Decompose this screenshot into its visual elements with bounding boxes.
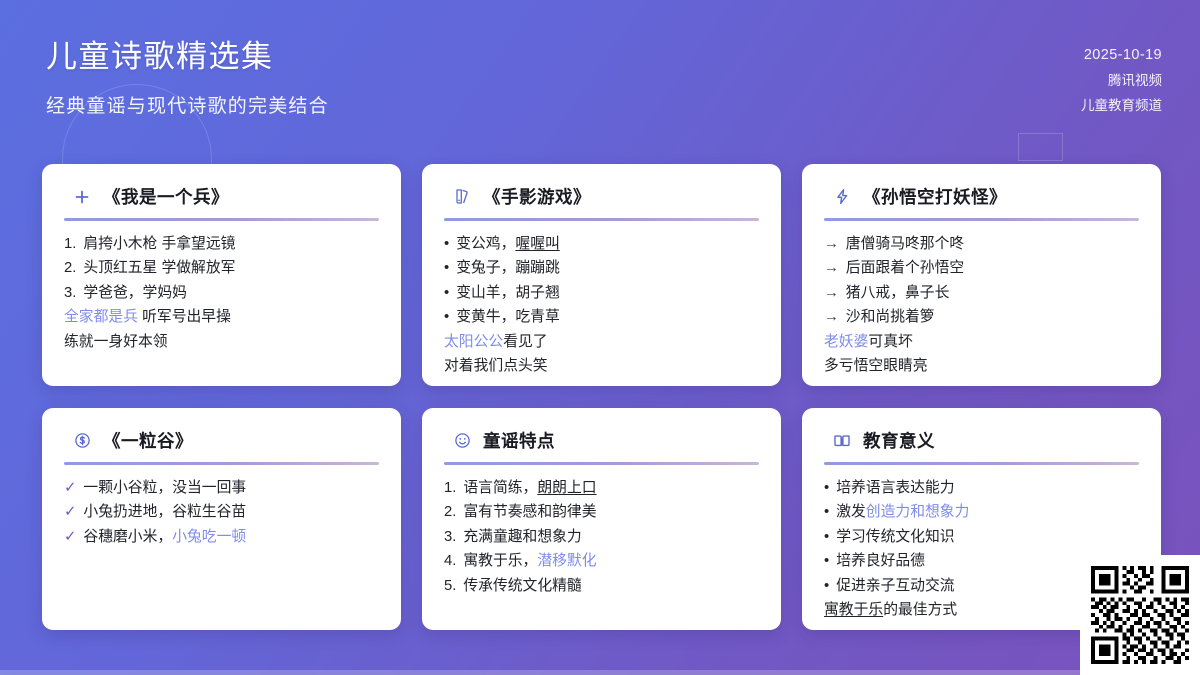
card-body: •变公鸡，喔喔叫•变兔子，蹦蹦跳•变山羊，胡子翘•变黄牛，吃青草太阳公公看见了对… — [444, 232, 759, 379]
line-text: 唐僧骑马咚那个咚 — [846, 236, 964, 252]
card-divider — [444, 218, 759, 221]
list-item: 3.充满童趣和想象力 — [444, 525, 759, 550]
list-item: →猪八戒，鼻子长 — [824, 281, 1139, 306]
list-item: 5.传承传统文化精髓 — [444, 574, 759, 599]
card-footer-line: 老妖婆可真坏 — [824, 330, 1139, 355]
list-marker: • — [824, 476, 829, 501]
page-title: 儿童诗歌精选集 — [46, 38, 329, 77]
list-item: →沙和尚挑着箩 — [824, 305, 1139, 330]
list-marker: • — [444, 232, 449, 257]
line-text: 充满童趣和想象力 — [463, 529, 581, 545]
list-marker: • — [444, 305, 449, 330]
list-item-text: 头顶红五星 学做解放军 — [83, 256, 235, 281]
bottom-accent-strip — [0, 670, 1200, 675]
highlighted-text: 老妖婆 — [824, 334, 868, 350]
list-marker: → — [824, 256, 839, 281]
list-item-text: 培养语言表达能力 — [836, 476, 954, 501]
list-item-text: 学习传统文化知识 — [836, 525, 954, 550]
card-title: 教育意义 — [863, 428, 935, 453]
line-text: 学爸爸，学妈妈 — [83, 285, 187, 301]
line-text: 变山羊，胡子翘 — [456, 285, 560, 301]
line-text: 富有节奏感和韵律美 — [463, 504, 596, 520]
list-item: 4.寓教于乐，潜移默化 — [444, 549, 759, 574]
content-card: 《手影游戏》•变公鸡，喔喔叫•变兔子，蹦蹦跳•变山羊，胡子翘•变黄牛，吃青草太阳… — [422, 164, 781, 386]
list-marker: 2. — [444, 500, 456, 525]
line-text: 多亏悟空眼睛亮 — [824, 358, 928, 374]
card-header: 《手影游戏》 — [444, 184, 759, 209]
highlighted-text: 创造力和想象力 — [866, 504, 970, 520]
list-marker: • — [824, 500, 829, 525]
line-text: 变黄牛，吃青草 — [456, 309, 560, 325]
list-item: •变兔子，蹦蹦跳 — [444, 256, 759, 281]
card-header: 教育意义 — [824, 428, 1139, 453]
list-item: 3.学爸爸，学妈妈 — [64, 281, 379, 306]
card-header: 童谣特点 — [444, 428, 759, 453]
highlighted-text: 潜移默化 — [537, 553, 596, 569]
list-marker: 1. — [444, 476, 456, 501]
meta-source: 腾讯视频 — [1081, 69, 1162, 94]
list-marker: 3. — [64, 281, 76, 306]
line-text: 的最佳方式 — [883, 602, 957, 618]
card-body: ✓一颗小谷粒，没当一回事✓小兔扔进地，谷粒生谷苗✓谷穗磨小米，小兔吃一顿 — [64, 476, 379, 550]
open-book-icon — [832, 431, 852, 451]
list-marker: → — [824, 232, 839, 257]
plus-icon — [72, 187, 92, 207]
list-item: →后面跟着个孙悟空 — [824, 256, 1139, 281]
line-text: 练就一身好本领 — [64, 334, 168, 350]
qr-code-icon — [1091, 566, 1189, 664]
list-item-text: 猪八戒，鼻子长 — [846, 281, 950, 306]
card-title: 童谣特点 — [483, 428, 555, 453]
list-item-text: 沙和尚挑着箩 — [846, 305, 935, 330]
list-marker: • — [824, 525, 829, 550]
list-item-text: 充满童趣和想象力 — [463, 525, 581, 550]
list-marker: 5. — [444, 574, 456, 599]
list-marker: • — [824, 574, 829, 599]
list-item-text: 培养良好品德 — [836, 549, 925, 574]
card-header: 《我是一个兵》 — [64, 184, 379, 209]
card-divider — [824, 218, 1139, 221]
line-text: 谷穗磨小米， — [83, 529, 172, 545]
list-item-text: 语言简练，朗朗上口 — [463, 476, 596, 501]
line-text: 可真坏 — [868, 334, 912, 350]
coin-dollar-icon — [72, 431, 92, 451]
line-text: 对着我们点头笑 — [444, 358, 548, 374]
list-marker: ✓ — [64, 500, 76, 525]
list-item: ✓谷穗磨小米，小兔吃一顿 — [64, 525, 379, 550]
line-text: 激发 — [836, 504, 866, 520]
underlined-text: 寓教于乐 — [824, 602, 883, 618]
card-divider — [64, 218, 379, 221]
list-item: 2.头顶红五星 学做解放军 — [64, 256, 379, 281]
highlighted-text: 太阳公公 — [444, 334, 503, 350]
card-footer-line: 练就一身好本领 — [64, 330, 379, 355]
line-text: 看见了 — [503, 334, 547, 350]
card-footer-line: 全家都是兵 听军号出早操 — [64, 305, 379, 330]
card-divider — [824, 462, 1139, 465]
card-grid: 《我是一个兵》1.肩挎小木枪 手拿望远镜2.头顶红五星 学做解放军3.学爸爸，学… — [42, 164, 1158, 630]
list-item-text: 后面跟着个孙悟空 — [846, 256, 964, 281]
card-footer-line: 太阳公公看见了 — [444, 330, 759, 355]
content-card: 《我是一个兵》1.肩挎小木枪 手拿望远镜2.头顶红五星 学做解放军3.学爸爸，学… — [42, 164, 401, 386]
list-item-text: 激发创造力和想象力 — [836, 500, 969, 525]
content-card: 童谣特点1.语言简练，朗朗上口2.富有节奏感和韵律美3.充满童趣和想象力4.寓教… — [422, 408, 781, 630]
palette-icon — [452, 187, 472, 207]
list-marker: → — [824, 281, 839, 306]
list-marker: 2. — [64, 256, 76, 281]
list-marker: • — [444, 281, 449, 306]
page-subtitle: 经典童谣与现代诗歌的完美结合 — [46, 91, 329, 118]
highlighted-text: 全家都是兵 — [64, 309, 138, 325]
list-item-text: 肩挎小木枪 手拿望远镜 — [83, 232, 235, 257]
list-item: •变山羊，胡子翘 — [444, 281, 759, 306]
line-text: 变公鸡， — [456, 236, 515, 252]
line-text: 语言简练， — [463, 480, 537, 496]
lightning-icon — [832, 187, 852, 207]
card-body: 1.语言简练，朗朗上口2.富有节奏感和韵律美3.充满童趣和想象力4.寓教于乐，潜… — [444, 476, 759, 599]
line-text: 传承传统文化精髓 — [463, 578, 581, 594]
card-header: 《孙悟空打妖怪》 — [824, 184, 1139, 209]
list-item-text: 变兔子，蹦蹦跳 — [456, 256, 560, 281]
line-text: 促进亲子互动交流 — [836, 578, 954, 594]
card-footer-line: 多亏悟空眼睛亮 — [824, 354, 1139, 379]
list-marker: 1. — [64, 232, 76, 257]
line-text: 培养语言表达能力 — [836, 480, 954, 496]
smiley-icon — [452, 431, 472, 451]
list-item: •培养语言表达能力 — [824, 476, 1139, 501]
content-card: 《孙悟空打妖怪》→唐僧骑马咚那个咚→后面跟着个孙悟空→猪八戒，鼻子长→沙和尚挑着… — [802, 164, 1161, 386]
list-item: ✓一颗小谷粒，没当一回事 — [64, 476, 379, 501]
list-item-text: 谷穗磨小米，小兔吃一顿 — [83, 525, 246, 550]
list-item-text: 促进亲子互动交流 — [836, 574, 954, 599]
line-text: 沙和尚挑着箩 — [846, 309, 935, 325]
card-title: 《一粒谷》 — [103, 428, 193, 453]
list-item: 2.富有节奏感和韵律美 — [444, 500, 759, 525]
card-body: 1.肩挎小木枪 手拿望远镜2.头顶红五星 学做解放军3.学爸爸，学妈妈全家都是兵… — [64, 232, 379, 355]
list-item-text: 唐僧骑马咚那个咚 — [846, 232, 964, 257]
list-item-text: 寓教于乐，潜移默化 — [463, 549, 596, 574]
list-item-text: 富有节奏感和韵律美 — [463, 500, 596, 525]
list-marker: → — [824, 305, 839, 330]
card-divider — [444, 462, 759, 465]
line-text: 猪八戒，鼻子长 — [846, 285, 950, 301]
card-footer-line: 对着我们点头笑 — [444, 354, 759, 379]
list-marker: 4. — [444, 549, 456, 574]
list-marker: • — [444, 256, 449, 281]
line-text: 后面跟着个孙悟空 — [846, 260, 964, 276]
page-header: 儿童诗歌精选集 经典童谣与现代诗歌的完美结合 2025-10-19 腾讯视频 儿… — [0, 0, 1200, 150]
card-title: 《手影游戏》 — [483, 184, 591, 209]
list-item-text: 一颗小谷粒，没当一回事 — [83, 476, 246, 501]
line-text: 学习传统文化知识 — [836, 529, 954, 545]
list-item-text: 变黄牛，吃青草 — [456, 305, 560, 330]
line-text: 一颗小谷粒，没当一回事 — [83, 480, 246, 496]
highlighted-text: 小兔吃一顿 — [172, 529, 246, 545]
header-title-block: 儿童诗歌精选集 经典童谣与现代诗歌的完美结合 — [46, 38, 329, 118]
list-marker: • — [824, 549, 829, 574]
content-card: 《一粒谷》✓一颗小谷粒，没当一回事✓小兔扔进地，谷粒生谷苗✓谷穗磨小米，小兔吃一… — [42, 408, 401, 630]
qr-code-container[interactable] — [1080, 555, 1200, 675]
card-divider — [64, 462, 379, 465]
line-text: 头顶红五星 学做解放军 — [83, 260, 235, 276]
card-title: 《孙悟空打妖怪》 — [863, 184, 1007, 209]
card-title: 《我是一个兵》 — [103, 184, 229, 209]
line-text: 听军号出早操 — [138, 309, 231, 325]
header-meta-block: 2025-10-19 腾讯视频 儿童教育频道 — [1081, 42, 1162, 119]
list-item: 1.肩挎小木枪 手拿望远镜 — [64, 232, 379, 257]
meta-channel: 儿童教育频道 — [1081, 94, 1162, 119]
list-item-text: 变公鸡，喔喔叫 — [456, 232, 560, 257]
list-item: •学习传统文化知识 — [824, 525, 1139, 550]
list-item: 1.语言简练，朗朗上口 — [444, 476, 759, 501]
list-item: •变公鸡，喔喔叫 — [444, 232, 759, 257]
line-text: 培养良好品德 — [836, 553, 925, 569]
list-item: →唐僧骑马咚那个咚 — [824, 232, 1139, 257]
meta-date: 2025-10-19 — [1081, 42, 1162, 69]
list-marker: 3. — [444, 525, 456, 550]
list-item-text: 变山羊，胡子翘 — [456, 281, 560, 306]
list-item: ✓小兔扔进地，谷粒生谷苗 — [64, 500, 379, 525]
list-item: •激发创造力和想象力 — [824, 500, 1139, 525]
card-body: →唐僧骑马咚那个咚→后面跟着个孙悟空→猪八戒，鼻子长→沙和尚挑着箩老妖婆可真坏多… — [824, 232, 1139, 379]
list-item-text: 小兔扔进地，谷粒生谷苗 — [83, 500, 246, 525]
underlined-text: 朗朗上口 — [537, 480, 596, 496]
list-item: •变黄牛，吃青草 — [444, 305, 759, 330]
underlined-text: 喔喔叫 — [515, 236, 559, 252]
list-marker: ✓ — [64, 476, 76, 501]
list-marker: ✓ — [64, 525, 76, 550]
line-text: 变兔子，蹦蹦跳 — [456, 260, 560, 276]
line-text: 寓教于乐， — [463, 553, 537, 569]
line-text: 肩挎小木枪 手拿望远镜 — [83, 236, 235, 252]
card-header: 《一粒谷》 — [64, 428, 379, 453]
line-text: 小兔扔进地，谷粒生谷苗 — [83, 504, 246, 520]
list-item-text: 学爸爸，学妈妈 — [83, 281, 187, 306]
list-item-text: 传承传统文化精髓 — [463, 574, 581, 599]
